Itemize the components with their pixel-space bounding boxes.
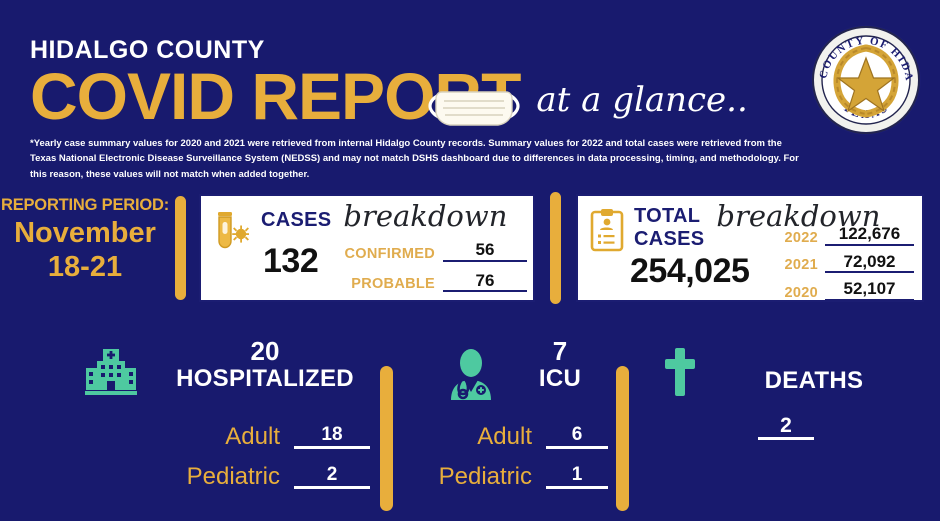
total-cases-title-line2: CASES bbox=[634, 229, 704, 249]
total-cases-2020-value: 52,107 bbox=[825, 279, 914, 301]
cases-row-confirmed: CONFIRMED 56 bbox=[331, 240, 527, 262]
cases-confirmed-value: 56 bbox=[443, 240, 527, 262]
cases-panel: CASES breakdown 132 CONFIRMED 56 PROBABL… bbox=[199, 194, 535, 302]
stats-row: 20 HOSPITALIZED Adult 18 Pediatric 2 7 bbox=[0, 330, 940, 521]
total-cases-title-line1: TOTAL bbox=[634, 206, 704, 226]
total-cases-2021-label: 2021 bbox=[774, 257, 818, 273]
title-row: COVID REPORT at a glance.. bbox=[30, 65, 790, 128]
total-cases-total: 254,025 bbox=[630, 252, 749, 291]
cases-script-word: breakdown bbox=[343, 202, 507, 231]
cases-probable-value: 76 bbox=[443, 271, 527, 293]
icu-row-adult: Adult 6 bbox=[408, 425, 608, 449]
tagline: at a glance.. bbox=[536, 80, 747, 120]
header: HIDALGO COUNTY COVID REPORT at a glance.… bbox=[30, 38, 790, 128]
cases-confirmed-label: CONFIRMED bbox=[331, 246, 435, 262]
icu-pediatric-value: 1 bbox=[546, 465, 608, 489]
page-title: COVID REPORT bbox=[30, 65, 520, 128]
divider-bar-icu-deaths bbox=[616, 366, 629, 511]
icu-adult-value: 6 bbox=[546, 425, 608, 449]
icu-adult-label: Adult bbox=[408, 425, 532, 449]
covid-report-infographic: HIDALGO COUNTY COVID REPORT at a glance.… bbox=[0, 0, 940, 521]
hospitalized-row-pediatric: Pediatric 2 bbox=[150, 465, 370, 489]
cases-row-probable: PROBABLE 76 bbox=[331, 271, 527, 293]
total-cases-2022-label: 2022 bbox=[774, 230, 818, 246]
reporting-period-label: REPORTING PERIOD: bbox=[0, 196, 170, 216]
total-cases-panel: TOTAL CASES breakdown 254,025 2022 122,6… bbox=[576, 194, 924, 302]
county-seal: THE COUNTY OF HIDALGO TEXAS bbox=[808, 22, 924, 138]
reporting-period-days: 18-21 bbox=[0, 250, 170, 284]
cases-probable-label: PROBABLE bbox=[331, 276, 435, 292]
divider-bar-left bbox=[175, 196, 186, 300]
hospitalized-pediatric-label: Pediatric bbox=[150, 465, 280, 489]
summary-row: REPORTING PERIOD: November 18-21 bbox=[0, 192, 940, 310]
reporting-period-month: November bbox=[0, 216, 170, 250]
cases-title: CASES bbox=[261, 210, 331, 230]
icu-row-pediatric: Pediatric 1 bbox=[408, 465, 608, 489]
doctor-stethoscope-icon bbox=[444, 348, 498, 400]
cases-total: 132 bbox=[263, 242, 318, 281]
hospitalized-adult-value: 18 bbox=[294, 425, 370, 449]
hospital-building-icon bbox=[84, 348, 138, 398]
icu-count: 7 bbox=[500, 338, 620, 365]
total-cases-2020-label: 2020 bbox=[774, 285, 818, 301]
divider-bar-middle bbox=[550, 192, 561, 304]
deaths-label: DEATHS bbox=[714, 368, 914, 393]
hospitalized-count: 20 bbox=[160, 338, 370, 365]
test-tube-virus-icon bbox=[213, 210, 249, 252]
hospitalized-adult-label: Adult bbox=[150, 425, 280, 449]
total-cases-row-2020: 2020 52,107 bbox=[774, 279, 914, 301]
icu-pediatric-label: Pediatric bbox=[408, 465, 532, 489]
total-cases-row-2021: 2021 72,092 bbox=[774, 252, 914, 274]
deaths-value: 2 bbox=[758, 414, 814, 440]
hospitalized-pediatric-value: 2 bbox=[294, 465, 370, 489]
hospitalized-label: HOSPITALIZED bbox=[160, 366, 370, 391]
clipboard-icon bbox=[590, 208, 624, 252]
icu-label: ICU bbox=[500, 366, 620, 391]
total-cases-row-2022: 2022 122,676 bbox=[774, 224, 914, 246]
disclaimer-text: *Yearly case summary values for 2020 and… bbox=[30, 136, 810, 182]
total-cases-2021-value: 72,092 bbox=[825, 252, 914, 274]
reporting-period: REPORTING PERIOD: November 18-21 bbox=[0, 196, 170, 284]
hospitalized-row-adult: Adult 18 bbox=[150, 425, 370, 449]
total-cases-2022-value: 122,676 bbox=[825, 224, 914, 246]
divider-bar-hospitalized-icu bbox=[380, 366, 393, 511]
cross-icon bbox=[662, 346, 698, 398]
